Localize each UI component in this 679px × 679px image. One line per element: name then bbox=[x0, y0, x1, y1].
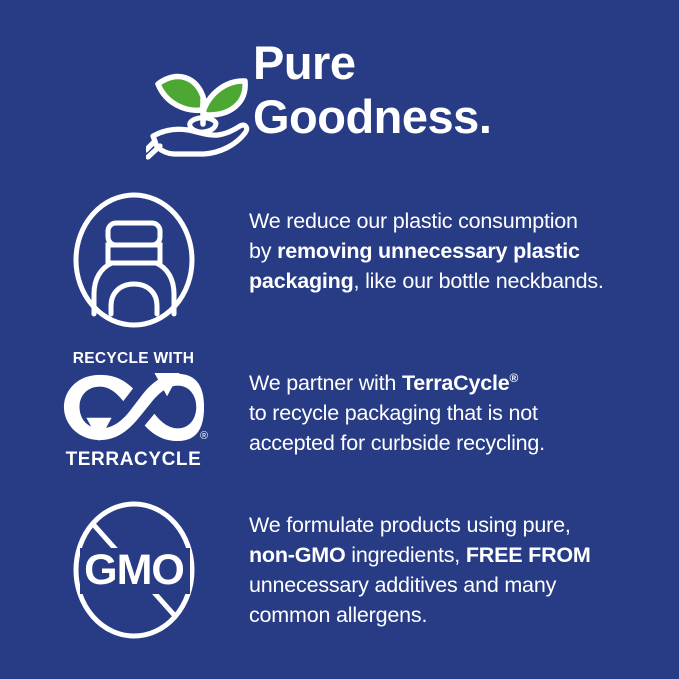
hand-holding-sprout-icon bbox=[146, 58, 256, 168]
text-line: by removing unnecessary plastic bbox=[249, 236, 669, 266]
svg-text:GMO: GMO bbox=[84, 546, 184, 594]
text-line: We reduce our plastic consumption bbox=[249, 206, 669, 236]
text-line: common allergens. bbox=[249, 600, 669, 630]
text-line: non-GMO ingredients, FREE FROM bbox=[249, 540, 669, 570]
recycle-infinity-arrows-icon: ® bbox=[56, 371, 211, 448]
bottle-neckband-circle-icon bbox=[56, 190, 216, 330]
terracycle-bottom-label: TERRACYCLE bbox=[56, 449, 211, 471]
benefit-text-gmo: We formulate products using pure,non-GMO… bbox=[249, 510, 669, 630]
no-gmo-icon: GMO bbox=[56, 498, 216, 638]
text-line: packaging, like our bottle neckbands. bbox=[249, 266, 669, 296]
benefit-row-plastic: We reduce our plastic consumptionby remo… bbox=[0, 190, 679, 330]
text-line: to recycle packaging that is not bbox=[249, 398, 669, 428]
page-title: Pure Goodness. bbox=[253, 36, 673, 144]
text-line: unnecessary additives and many bbox=[249, 570, 669, 600]
text-line: We formulate products using pure, bbox=[249, 510, 669, 540]
benefit-row-terracycle: RECYCLE WITH ® TERRACYCLE We partner wit… bbox=[0, 345, 679, 485]
text-line: We partner with TerraCycle® bbox=[249, 363, 669, 398]
pure-goodness-infographic: Pure Goodness. We reduce our plastic con… bbox=[0, 0, 679, 679]
benefit-row-gmo: GMO We formulate products using pure,non… bbox=[0, 498, 679, 643]
header: Pure Goodness. bbox=[0, 28, 679, 158]
page-title-line-1: Pure bbox=[253, 36, 673, 90]
page-title-line-2: Goodness. bbox=[253, 90, 673, 144]
benefit-text-terracycle: We partner with TerraCycle®to recycle pa… bbox=[249, 363, 669, 458]
benefit-text-plastic: We reduce our plastic consumptionby remo… bbox=[249, 206, 669, 296]
terracycle-logo: RECYCLE WITH ® TERRACYCLE bbox=[56, 345, 211, 473]
svg-text:®: ® bbox=[200, 430, 208, 442]
text-line: accepted for curbside recycling. bbox=[249, 428, 669, 458]
terracycle-top-label: RECYCLE WITH bbox=[56, 350, 211, 368]
